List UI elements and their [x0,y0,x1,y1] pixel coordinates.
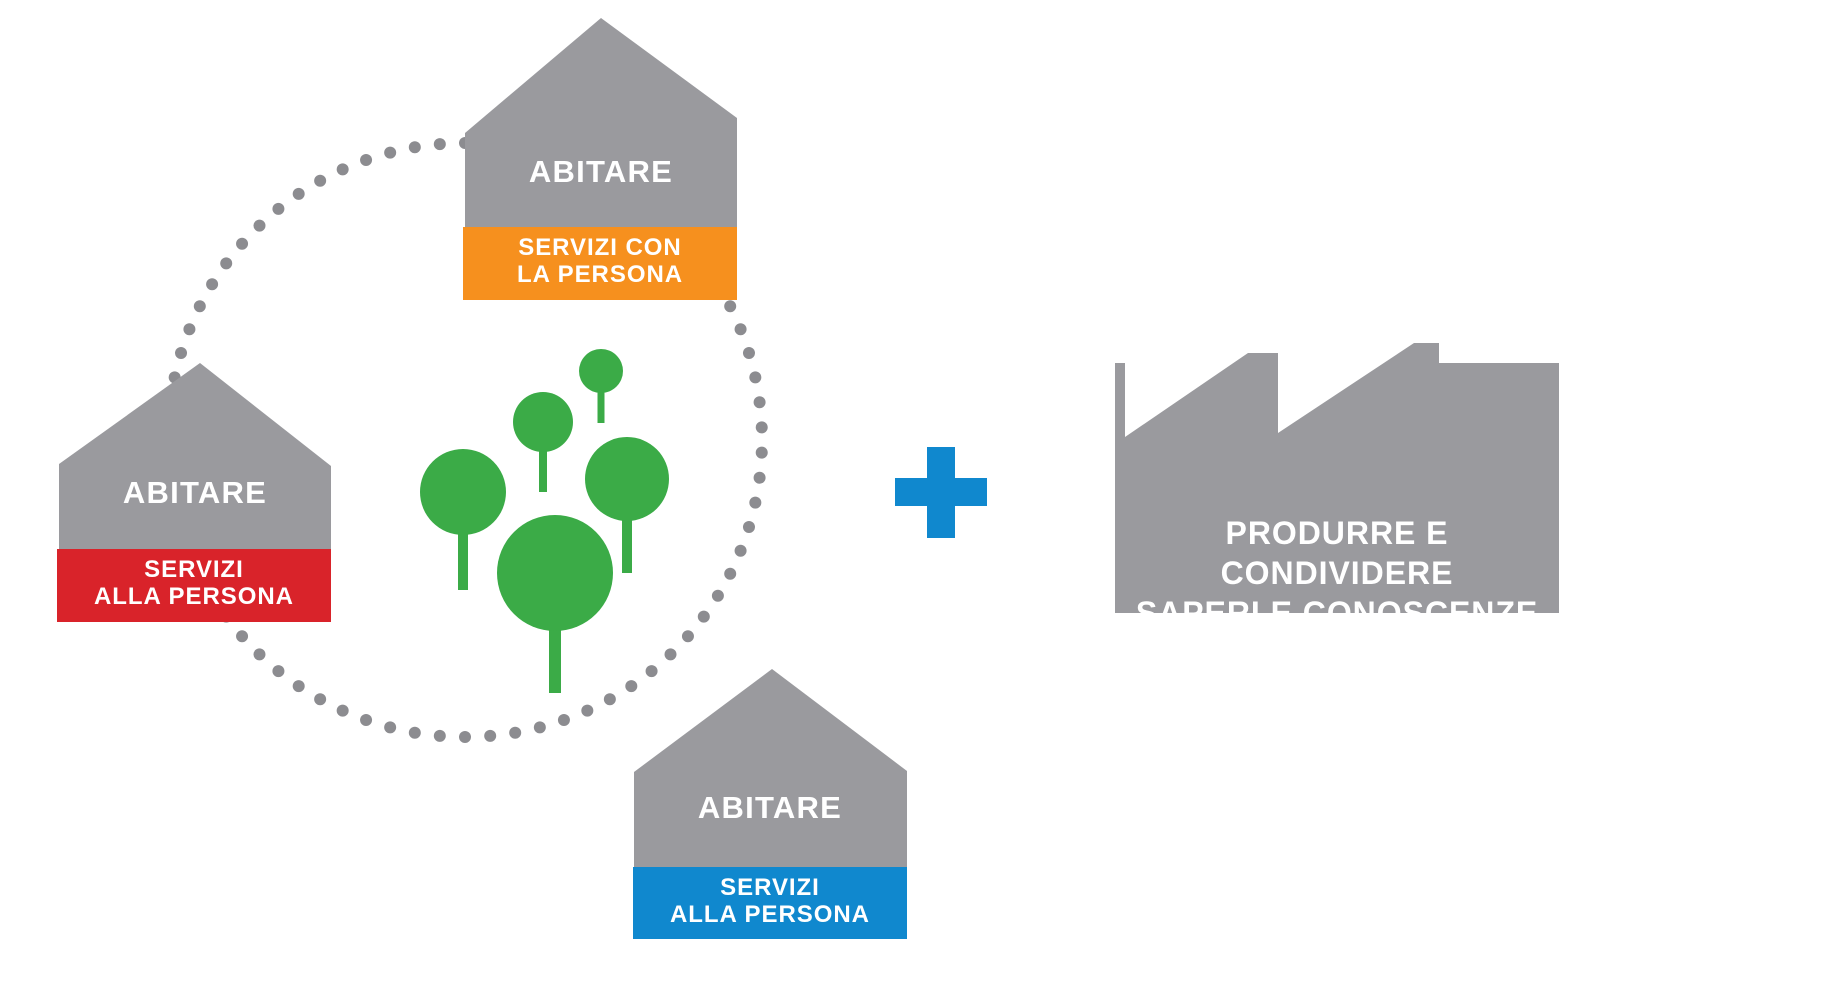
house-top-roof-body [465,18,737,227]
house-left-roof-body [59,363,331,550]
house-left[interactable] [57,363,331,622]
tree-medium-crown [513,392,573,452]
tree-large [497,515,613,693]
house-top[interactable] [463,18,737,300]
house-bottom-band [633,867,907,939]
house-bottom[interactable] [633,669,907,939]
tree-large-crown [497,515,613,631]
house-bottom-roof-body [634,669,907,868]
tree-left [420,449,506,590]
tree-medium [513,392,573,492]
tree-cluster [420,349,669,693]
tree-small [579,349,623,423]
tree-right-crown [585,437,669,521]
mountain-shape[interactable] [1115,343,1559,613]
diagram-canvas: ABITARE SERVIZI CON LA PERSONA ABITARE S… [0,0,1825,985]
tree-small-crown [579,349,623,393]
plus-horizontal-bar [895,478,987,506]
house-left-band [57,549,331,622]
plus-sign [895,447,987,538]
shapes-layer [0,0,1825,985]
house-top-band [463,227,737,300]
tree-left-crown [420,449,506,535]
mountain-silhouette [1115,343,1559,613]
